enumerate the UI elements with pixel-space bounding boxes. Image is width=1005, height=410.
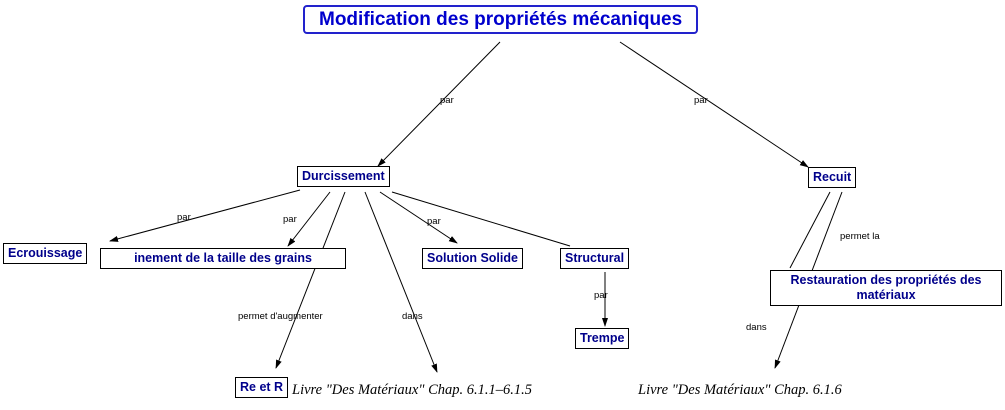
node-trempe[interactable]: Trempe [575,328,629,349]
reference-recuit: Livre "Des Matériaux" Chap. 6.1.6 [638,382,842,399]
node-durcissement[interactable]: Durcissement [297,166,390,187]
diagram-edges [0,0,1005,410]
edge-label-permet-la: permet la [840,231,880,242]
edge-title-recuit [620,42,808,167]
diagram-canvas: Modification des propriétés mécaniques D… [0,0,1005,410]
node-restauration-proprietes[interactable]: Restauration des propriétés des matériau… [770,270,1002,306]
edge-label-permet-daugmenter: permet d'augmenter [238,311,323,322]
node-solution-solide[interactable]: Solution Solide [422,248,523,269]
node-recuit[interactable]: Recuit [808,167,856,188]
edge-label-dans-durcissement: dans [402,311,423,322]
edge-label-par-title-durcissement: par [440,95,454,106]
node-re-et-r-label: Re et R [240,380,283,394]
node-title-label: Modification des propriétés mécaniques [319,9,682,30]
node-ecrouissage[interactable]: Ecrouissage [3,243,87,264]
node-solution-solide-label: Solution Solide [427,251,518,265]
edge-label-par-durcissement-solution: par [427,216,441,227]
edge-label-dans-recuit: dans [746,322,767,333]
edge-durcissement-ecrouissage [110,190,300,241]
node-ecrouissage-label: Ecrouissage [8,246,82,260]
edge-durcissement-structural [392,192,570,246]
edge-title-durcissement [378,42,500,166]
node-affinement-taille-grains[interactable]: inement de la taille des grains [100,248,346,269]
node-structural[interactable]: Structural [560,248,629,269]
node-recuit-label: Recuit [813,170,851,184]
edge-label-par-title-recuit: par [694,95,708,106]
node-title[interactable]: Modification des propriétés mécaniques [303,5,698,34]
node-durcissement-label: Durcissement [302,169,385,183]
node-structural-label: Structural [565,251,624,265]
node-affinement-label: inement de la taille des grains [134,251,312,265]
edge-recuit-restauration [790,192,830,268]
edge-label-par-durcissement-affinement: par [283,214,297,225]
edge-durcissement-solution [380,192,457,243]
edge-label-par-structural-trempe: par [594,290,608,301]
edge-label-par-durcissement-ecrouissage: par [177,212,191,223]
node-restauration-label: Restauration des propriétés des matériau… [790,273,981,302]
node-trempe-label: Trempe [580,331,624,345]
reference-durcissement: Livre "Des Matériaux" Chap. 6.1.1–6.1.5 [292,382,532,399]
node-re-et-r[interactable]: Re et R [235,377,288,398]
